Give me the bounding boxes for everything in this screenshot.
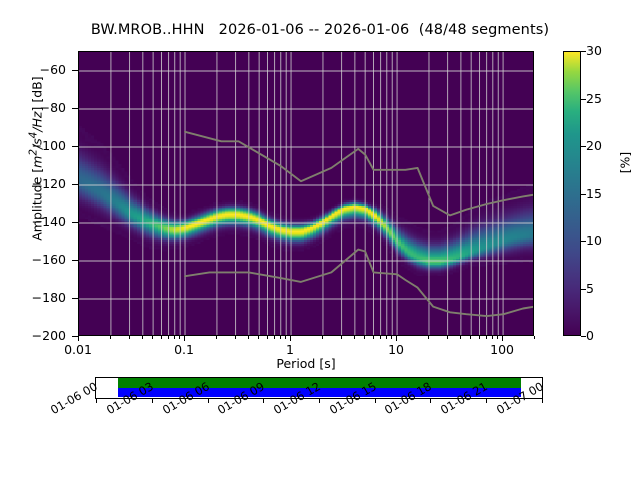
x-tick-mark (152, 336, 153, 339)
y-tick-mark (72, 222, 78, 223)
x-tick-mark (290, 336, 291, 341)
colorbar-tick-label: 20 (586, 140, 602, 152)
y-tick-mark (72, 146, 78, 147)
y-tick-label: −60 (22, 64, 66, 76)
figure-title: BW.MROB..HHN 2026-01-06 -- 2026-01-06 (4… (0, 22, 640, 38)
x-tick-mark (285, 336, 286, 339)
x-tick-mark (179, 336, 180, 339)
x-tick-mark (248, 336, 249, 339)
x-tick-mark (341, 336, 342, 339)
timeline-tick-mark (542, 399, 543, 403)
x-tick-mark (354, 336, 355, 339)
timeline-tick-mark (375, 399, 376, 403)
colorbar-label: [%] (618, 128, 633, 198)
timeline-tick-mark (208, 399, 209, 403)
y-tick-mark (72, 108, 78, 109)
x-tick-mark (460, 336, 461, 339)
x-tick-mark (168, 336, 169, 339)
y-tick-mark (72, 298, 78, 299)
x-tick-mark (534, 336, 535, 339)
timeline-tick-mark (152, 399, 153, 403)
y-tick-mark (72, 260, 78, 261)
y-tick-label: −80 (22, 102, 66, 114)
colorbar-tick-label: 15 (586, 188, 602, 200)
x-tick-label: 0.01 (48, 344, 108, 356)
ppsd-plot-area[interactable] (78, 51, 534, 336)
x-tick-mark (216, 336, 217, 339)
x-tick-mark (235, 336, 236, 339)
x-tick-mark (428, 336, 429, 339)
x-tick-mark (174, 336, 175, 339)
timeline-tick-mark (430, 399, 431, 403)
x-tick-mark (479, 336, 480, 339)
timeline-tick-mark (96, 399, 97, 403)
timeline-tick-mark (486, 399, 487, 403)
x-tick-mark (280, 336, 281, 339)
x-tick-mark (258, 336, 259, 339)
x-tick-mark (486, 336, 487, 339)
timeline-tick-mark (263, 399, 264, 403)
x-tick-mark (184, 336, 185, 341)
x-tick-mark (322, 336, 323, 339)
colorbar-tick-label: 25 (586, 93, 602, 105)
y-tick-mark (72, 184, 78, 185)
x-tick-mark (386, 336, 387, 339)
x-tick-mark (110, 336, 111, 339)
x-tick-mark (396, 336, 397, 341)
x-tick-mark (373, 336, 374, 339)
x-tick-mark (78, 336, 79, 341)
colorbar-tick-label: 30 (586, 45, 602, 57)
y-tick-label: −200 (22, 330, 66, 342)
colorbar-tick-label: 0 (586, 330, 594, 342)
x-tick-mark (447, 336, 448, 339)
x-tick-label: 10 (366, 344, 426, 356)
y-tick-mark (72, 70, 78, 71)
x-tick-mark (274, 336, 275, 339)
x-tick-label: 0.1 (154, 344, 214, 356)
y-tick-label: −140 (22, 216, 66, 228)
y-tick-label: −120 (22, 178, 66, 190)
ppsd-figure: BW.MROB..HHN 2026-01-06 -- 2026-01-06 (4… (0, 0, 640, 480)
x-tick-mark (161, 336, 162, 339)
x-tick-mark (492, 336, 493, 339)
y-tick-label: −100 (22, 140, 66, 152)
x-tick-mark (502, 336, 503, 341)
x-tick-mark (380, 336, 381, 339)
timeline-tick-mark (319, 399, 320, 403)
x-tick-mark (470, 336, 471, 339)
x-tick-mark (267, 336, 268, 339)
colorbar (563, 51, 581, 336)
x-tick-mark (391, 336, 392, 339)
x-tick-mark (364, 336, 365, 339)
x-tick-mark (497, 336, 498, 339)
colorbar-tick-label: 10 (586, 235, 602, 247)
ppsd-histogram-canvas (79, 52, 534, 336)
x-tick-mark (129, 336, 130, 339)
colorbar-tick-label: 5 (586, 283, 594, 295)
x-tick-mark (142, 336, 143, 339)
x-tick-label: 100 (472, 344, 532, 356)
y-tick-label: −180 (22, 292, 66, 304)
y-tick-label: −160 (22, 254, 66, 266)
x-tick-label: 1 (260, 344, 320, 356)
timeline-tick-label: 01-06 00 (48, 379, 100, 417)
x-axis-label: Period [s] (78, 356, 534, 371)
